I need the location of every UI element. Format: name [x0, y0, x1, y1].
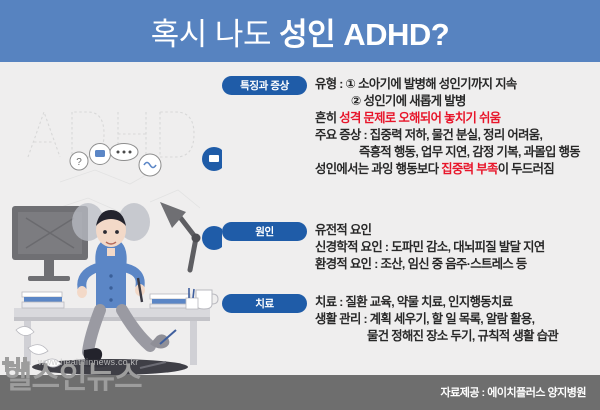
text-line: 물건 정해진 장소 두기, 규칙적 생활 습관: [315, 328, 600, 345]
text-line: 유전적 요인: [315, 222, 600, 239]
text-line: 성인에서는 과잉 행동보다 집중력 부족이 두드러짐: [315, 161, 600, 178]
text-line: 즉흥적 행동, 업무 지연, 감정 기복, 과몰입 행동: [315, 144, 600, 161]
body-area: ?: [0, 62, 600, 375]
text-line: 유형 : ① 소아기에 발병해 성인기까지 지속: [315, 76, 600, 93]
source-attribution: 자료제공 : 에이치플러스 양지병원: [440, 384, 586, 400]
treatment-lines: 치료 : 질환 교육, 약물 치료, 인지행동치료 생활 관리 : 계획 세우기…: [315, 294, 600, 345]
badge-treatment: 치료: [222, 294, 307, 313]
text-line: 치료 : 질환 교육, 약물 치료, 인지행동치료: [315, 294, 600, 311]
features-lines: 유형 : ① 소아기에 발병해 성인기까지 지속 ② 성인기에 새롭게 발병 흔…: [315, 76, 600, 178]
title-bold-part: 성인 ADHD?: [279, 17, 449, 52]
header-bar: 혹시 나도 성인 ADHD?: [0, 0, 600, 62]
svg-text:?: ?: [76, 157, 82, 168]
text-line: 신경학적 요인 : 도파민 감소, 대뇌피질 발달 지연: [315, 239, 600, 256]
content-column: 특징과 증상 유형 : ① 소아기에 발병해 성인기까지 지속 ② 성인기에 새…: [222, 62, 600, 375]
publisher-logo: 헬스인뉴스: [4, 361, 142, 395]
badge-causes: 원인: [222, 222, 307, 241]
title-light-part: 혹시 나도: [151, 17, 279, 52]
causes-lines: 유전적 요인 신경학적 요인 : 도파민 감소, 대뇌피질 발달 지연 환경적 …: [315, 222, 600, 273]
text-line: 흔히 성격 문제로 오해되어 놓치기 쉬움: [315, 110, 600, 127]
section-treatment: 치료 치료 : 질환 교육, 약물 치료, 인지행동치료 생활 관리 : 계획 …: [222, 294, 600, 345]
section-causes: 원인 유전적 요인 신경학적 요인 : 도파민 감소, 대뇌피질 발달 지연 환…: [222, 222, 600, 273]
text-line: ② 성인기에 새롭게 발병: [315, 93, 600, 110]
text-line: 환경적 요인 : 조산, 임신 중 음주·스트레스 등: [315, 256, 600, 273]
illustration-person-at-desk: ?: [0, 62, 222, 375]
text-line: 생활 관리 : 계획 세우기, 할 일 목록, 알람 활용,: [315, 311, 600, 328]
page-title: 혹시 나도 성인 ADHD?: [151, 9, 449, 54]
text-line: 주요 증상 : 집중력 저하, 물건 분실, 정리 어려움,: [315, 127, 600, 144]
infographic-page: 혹시 나도 성인 ADHD?: [0, 0, 600, 410]
badge-features-symptoms: 특징과 증상: [222, 76, 307, 95]
footer-bar: www.healthinnews.co.kr 헬스인뉴스 자료제공 : 에이치플…: [0, 375, 600, 410]
section-features-symptoms: 특징과 증상 유형 : ① 소아기에 발병해 성인기까지 지속 ② 성인기에 새…: [222, 76, 600, 178]
